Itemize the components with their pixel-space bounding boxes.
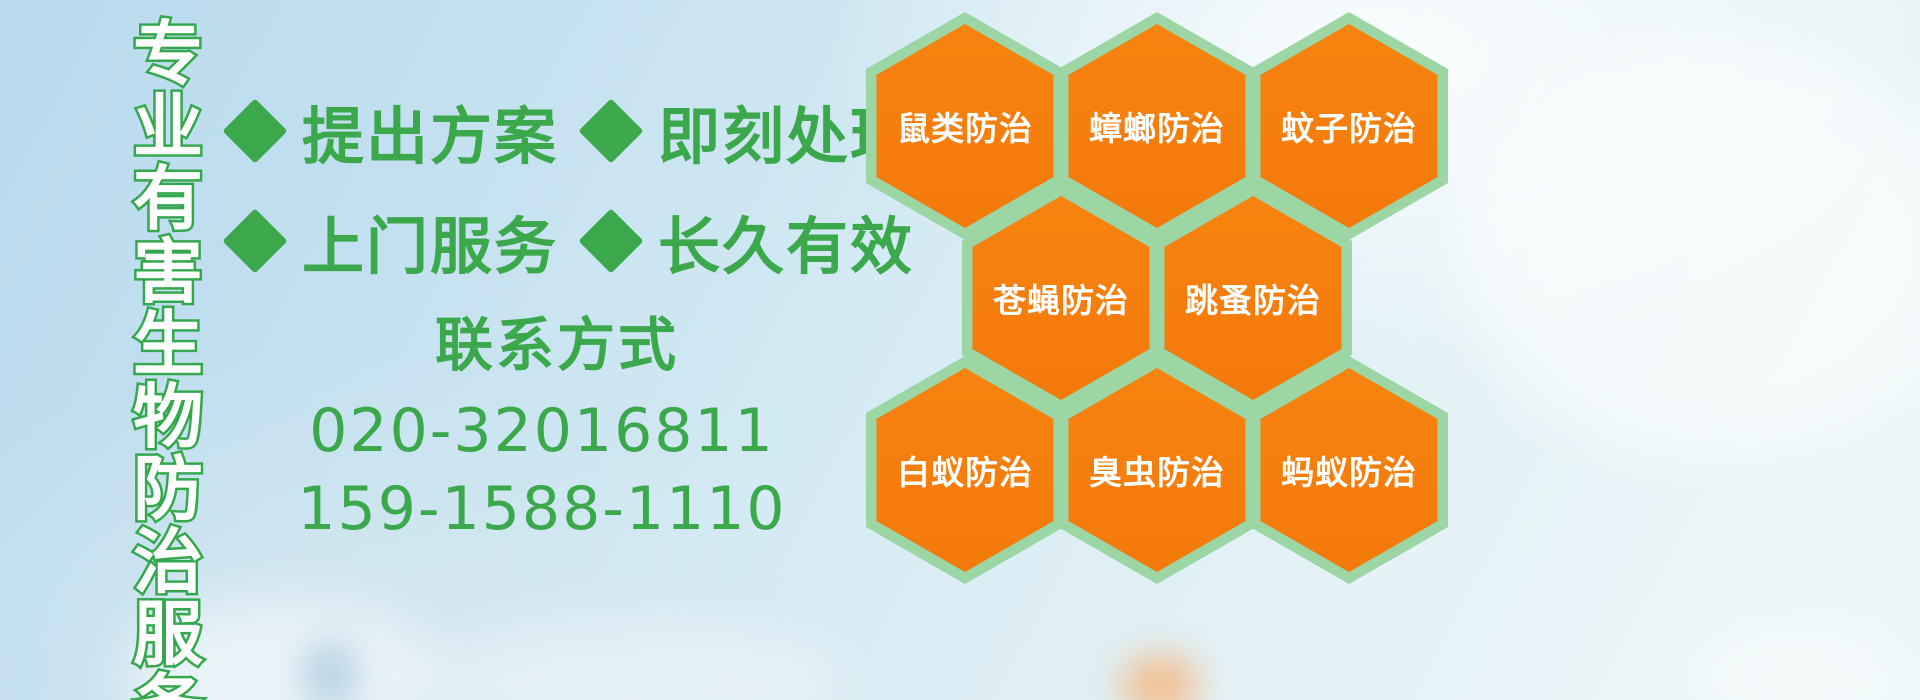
feature-item-onsite-service: 上门服务: [232, 196, 588, 286]
phone-landline[interactable]: 020-32016811: [232, 392, 852, 470]
diamond-icon: [222, 208, 287, 273]
contact-block: 联系方式 020-32016811 159-1588-1110: [232, 310, 852, 548]
vertical-headline: 专 业 有 害 生 物 防 治 服 务: [112, 18, 224, 684]
service-hex-termite[interactable]: 白蚁防治: [866, 356, 1064, 584]
diamond-icon: [222, 98, 287, 163]
service-label: 苍蝇防治: [962, 274, 1160, 322]
feature-list-row-2: 上门服务 长久有效: [232, 196, 944, 286]
feature-item-propose-plan: 提出方案: [232, 86, 588, 176]
service-label: 跳蚤防治: [1154, 274, 1352, 322]
vertical-headline-char: 有: [133, 163, 203, 236]
service-label: 蚊子防治: [1250, 102, 1448, 150]
vertical-headline-char: 防: [133, 453, 203, 526]
background-blob: [420, 620, 840, 700]
service-hexagon-grid: 鼠类防治 蟑螂防治 蚊子防治 苍蝇防治 跳蚤防治 白蚁防治: [862, 4, 1462, 694]
vertical-headline-char: 专: [133, 18, 203, 91]
diamond-icon: [578, 98, 643, 163]
phone-mobile[interactable]: 159-1588-1110: [232, 470, 852, 548]
service-label: 鼠类防治: [866, 102, 1064, 150]
vertical-headline-char: 业: [133, 91, 203, 164]
vertical-headline-char: 物: [133, 381, 203, 454]
vertical-headline-char: 务: [133, 671, 203, 700]
background-blob: [300, 640, 360, 700]
feature-label: 提出方案: [302, 86, 558, 176]
service-hex-bedbug[interactable]: 臭虫防治: [1058, 356, 1256, 584]
feature-list-row-1: 提出方案 即刻处理: [232, 86, 944, 176]
service-label: 蚂蚁防治: [1250, 446, 1448, 494]
contact-heading: 联系方式: [262, 310, 852, 380]
diamond-icon: [578, 208, 643, 273]
vertical-headline-char: 治: [133, 526, 203, 599]
service-label: 臭虫防治: [1058, 446, 1256, 494]
background-blob: [1460, 40, 1920, 460]
service-label: 蟑螂防治: [1058, 102, 1256, 150]
service-label: 白蚁防治: [866, 446, 1064, 494]
feature-label: 上门服务: [302, 196, 558, 286]
vertical-headline-char: 服: [133, 598, 203, 671]
vertical-headline-char: 害: [133, 236, 203, 309]
background-blob: [1680, 620, 1900, 700]
service-hex-ant[interactable]: 蚂蚁防治: [1250, 356, 1448, 584]
vertical-headline-char: 生: [133, 308, 203, 381]
pest-control-service-banner: 专 业 有 害 生 物 防 治 服 务 提出方案 即刻处理 上门服务 长久有效: [0, 0, 1920, 700]
